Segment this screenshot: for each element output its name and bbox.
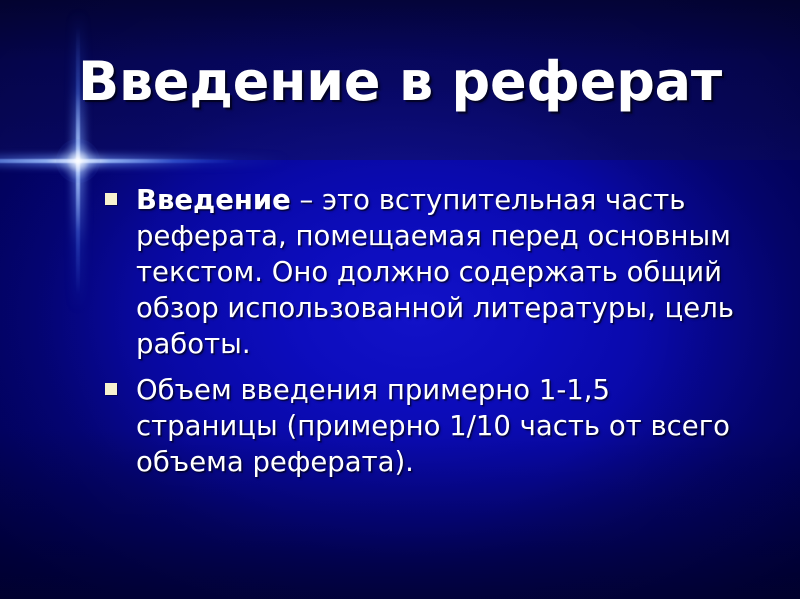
- sparkle-horizontal-ray: [0, 159, 238, 163]
- presentation-slide: Введение в реферат Введение – это вступи…: [0, 0, 800, 599]
- bullet-text: Введение – это вступительная часть рефер…: [136, 182, 744, 362]
- bullet-square-icon: [105, 193, 117, 205]
- sparkle-core: [56, 139, 100, 183]
- bullet-body-text: Объем введения примерно 1-1,5 страницы (…: [136, 374, 730, 478]
- bullet-text: Объем введения примерно 1-1,5 страницы (…: [136, 372, 744, 480]
- list-item: Введение – это вступительная часть рефер…: [104, 182, 744, 362]
- bullet-lead-term: Введение: [136, 184, 291, 216]
- list-item: Объем введения примерно 1-1,5 страницы (…: [104, 372, 744, 480]
- slide-body: Введение – это вступительная часть рефер…: [104, 182, 744, 490]
- slide-title: Введение в реферат: [60, 52, 740, 112]
- bullet-square-icon: [105, 383, 117, 395]
